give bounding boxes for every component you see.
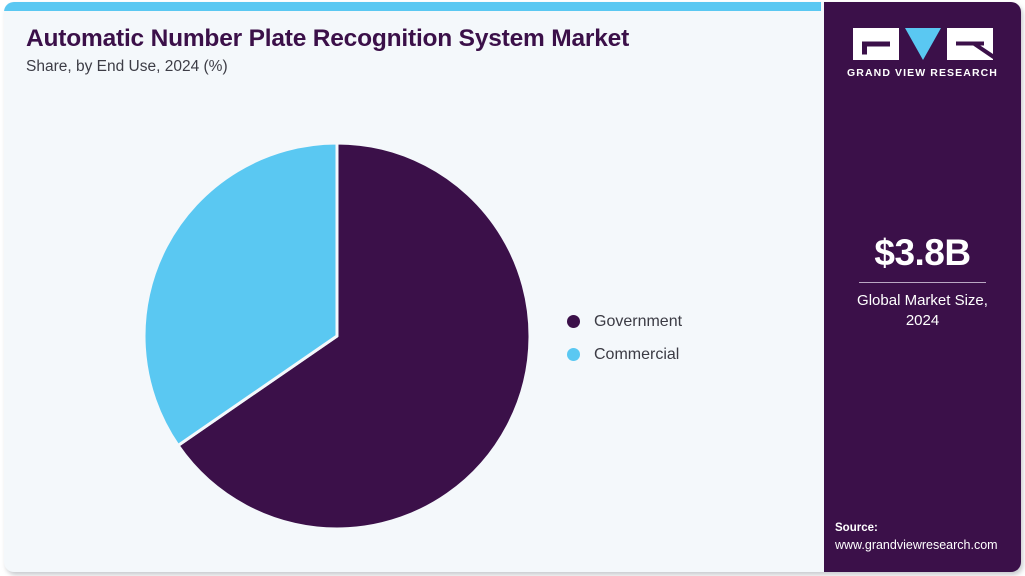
brand-side-panel: GRAND VIEW RESEARCH $3.8B Global Market … (824, 2, 1021, 572)
source-url[interactable]: www.grandviewresearch.com (835, 537, 1021, 554)
chart-legend: Government Commercial (567, 305, 682, 371)
pie-chart (142, 141, 532, 531)
legend-label-commercial: Commercial (594, 346, 679, 364)
source-label: Source: (835, 520, 1021, 537)
logo-wordmark: GRAND VIEW RESEARCH (824, 67, 1021, 79)
stat-divider (859, 282, 986, 283)
market-size-stat: $3.8B Global Market Size, 2024 (824, 234, 1021, 331)
chart-title: Automatic Number Plate Recognition Syste… (26, 24, 796, 53)
legend-label-government: Government (594, 313, 682, 331)
source-block: Source: www.grandviewresearch.com (835, 520, 1021, 554)
legend-color-swatch-government (567, 315, 580, 328)
legend-item-government[interactable]: Government (567, 305, 682, 338)
chart-subtitle: Share, by End Use, 2024 (%) (26, 57, 796, 76)
brand-logo: GRAND VIEW RESEARCH (824, 28, 1021, 79)
pie-slices (144, 143, 530, 529)
top-accent-strip (4, 2, 821, 11)
plot-area: Government Commercial (4, 102, 821, 572)
legend-color-swatch-commercial (567, 348, 580, 361)
logo-letter-marks (824, 28, 1021, 60)
legend-item-commercial[interactable]: Commercial (567, 338, 682, 371)
logo-v-triangle-icon (905, 28, 941, 60)
chart-canvas: Automatic Number Plate Recognition Syste… (0, 0, 1025, 576)
market-size-value: $3.8B (824, 234, 1021, 273)
logo-g-icon (853, 28, 899, 60)
chart-card: Automatic Number Plate Recognition Syste… (4, 2, 1021, 572)
logo-r-icon (947, 28, 993, 60)
pie-chart-svg (142, 141, 532, 531)
chart-header: Automatic Number Plate Recognition Syste… (26, 24, 796, 77)
market-size-caption: Global Market Size, 2024 (824, 291, 1021, 332)
